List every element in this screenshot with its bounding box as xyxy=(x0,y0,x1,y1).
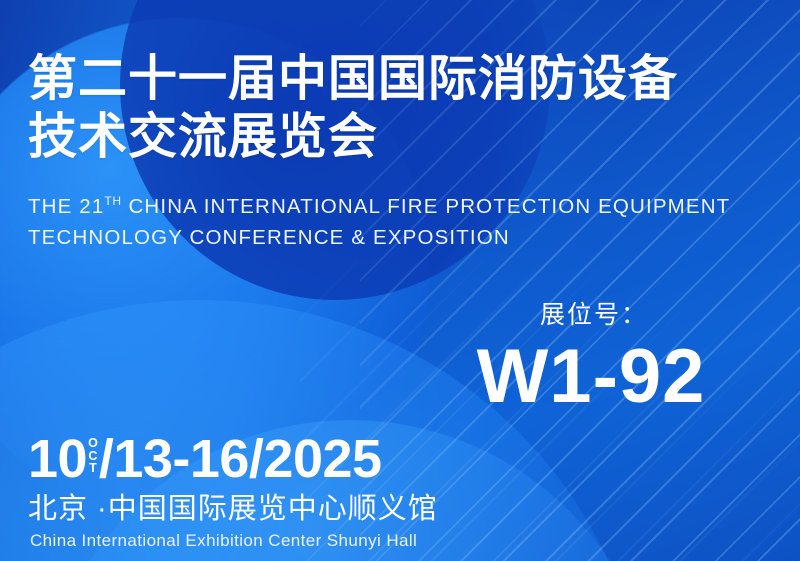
subtitle-line-1-suffix: CHINA INTERNATIONAL FIRE PROTECTION EQUI… xyxy=(122,195,731,218)
subtitle-line-1: THE 21TH CHINA INTERNATIONAL FIRE PROTEC… xyxy=(28,186,788,222)
subtitle-line-2: TECHNOLOGY CONFERENCE & EXPOSITION xyxy=(28,222,788,253)
page-title-chinese: 第二十一届中国国际消防设备 技术交流展览会 xyxy=(28,50,768,166)
month-letter-3: T xyxy=(89,462,97,475)
subtitle-line-1-prefix: THE 21 xyxy=(28,195,104,218)
date-range-and-year: /13-16/2025 xyxy=(99,432,382,486)
month-letter-1: O xyxy=(88,437,98,450)
booth-number: W1-92 xyxy=(426,336,756,418)
event-date: 10 O C T /13-16/2025 xyxy=(28,432,382,486)
date-day: 10 xyxy=(28,432,87,486)
exhibition-poster: 第二十一届中国国际消防设备 技术交流展览会 THE 21TH CHINA INT… xyxy=(0,0,800,561)
subtitle-ordinal-suffix: TH xyxy=(104,194,121,208)
booth-info: 展位号： W1-92 xyxy=(426,300,756,418)
venue-name-english: China International Exhibition Center Sh… xyxy=(30,530,417,552)
poster-content: 第二十一届中国国际消防设备 技术交流展览会 THE 21TH CHINA INT… xyxy=(0,0,800,561)
booth-label: 展位号： xyxy=(426,300,756,330)
page-subtitle-english: THE 21TH CHINA INTERNATIONAL FIRE PROTEC… xyxy=(28,186,788,253)
venue-name-chinese: 北京 ·中国国际展览中心顺义馆 xyxy=(28,492,438,526)
month-abbreviation-stacked: O C T xyxy=(88,434,98,478)
